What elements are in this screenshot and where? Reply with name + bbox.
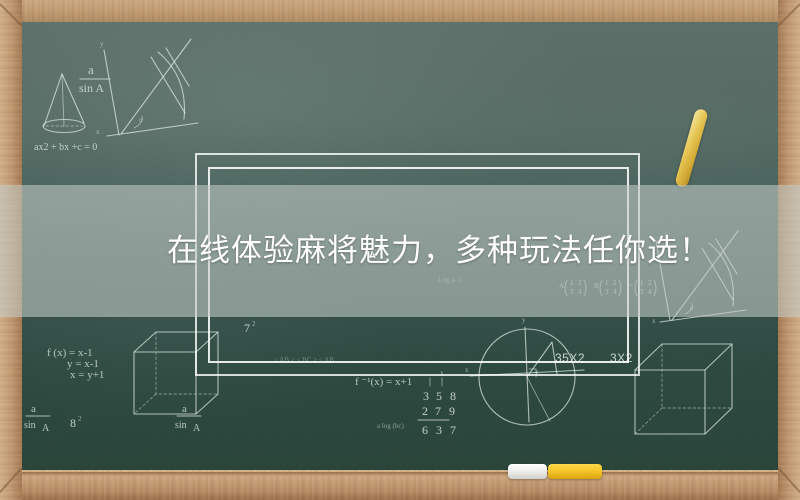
svg-text:o: o <box>139 116 143 124</box>
tray-lip <box>0 472 800 476</box>
svg-text:x: x <box>96 128 100 136</box>
chalk-cube-right <box>635 344 732 434</box>
chalk-function-lines: f (x) = x-1 y = x-1 x = y+1 <box>47 347 104 381</box>
chalk-angle-diagram-top: y x o <box>96 39 198 136</box>
chalk-log-bc: a log (bc) <box>377 422 404 430</box>
svg-text:sin A: sin A <box>79 81 104 95</box>
svg-text:a: a <box>182 403 187 415</box>
svg-text:2: 2 <box>422 404 428 418</box>
svg-text:8: 8 <box>70 416 76 430</box>
chalk-addition-column: x 3 5 8 2 7 9 6 3 7 <box>418 369 456 437</box>
svg-text:9: 9 <box>449 404 455 418</box>
headline-text: 在线体验麻将魅力，多种玩法任你选！ <box>167 236 711 267</box>
svg-text:7: 7 <box>435 404 441 418</box>
svg-text:y: y <box>100 40 104 48</box>
svg-text:5: 5 <box>436 389 442 403</box>
tray-chalk-white-icon <box>508 464 547 479</box>
tray-chalk-yellow-icon <box>548 464 602 479</box>
svg-text:2: 2 <box>78 415 82 423</box>
chalk-eight-squared: 8 2 <box>70 415 82 430</box>
svg-text:3: 3 <box>423 389 429 403</box>
svg-text:a: a <box>88 62 94 77</box>
svg-text:f (x) = x-1: f (x) = x-1 <box>47 347 93 359</box>
chalk-fraction-a-sina-bl: a sin A <box>24 403 50 434</box>
chalk-cone-diagram <box>43 74 85 133</box>
screenshot-stage: a sin A y x o ax2 + bx +c = 0 <box>0 0 800 500</box>
svg-text:8: 8 <box>450 389 456 403</box>
svg-text:y = x-1: y = x-1 <box>67 358 99 370</box>
frame-top-rail <box>0 0 800 22</box>
svg-text:7: 7 <box>450 423 456 437</box>
svg-text:sin: sin <box>175 420 187 431</box>
svg-text:A: A <box>193 423 201 434</box>
headline-banner: 在线体验麻将魅力，多种玩法任你选！ <box>0 185 800 317</box>
chalk-quadratic-text: ax2 + bx +c = 0 <box>34 142 97 153</box>
chalk-inverse-function: f ⁻¹(x) = x+1 <box>355 376 412 388</box>
svg-text:3: 3 <box>436 423 442 437</box>
svg-text:x: x <box>652 317 656 325</box>
chalk-fraction-a-sina-bl2: a sin A <box>175 403 201 434</box>
svg-text:x = y+1: x = y+1 <box>70 369 104 381</box>
chalk-stick-yellow-icon <box>674 108 709 188</box>
svg-text:A: A <box>42 423 50 434</box>
svg-text:a: a <box>31 403 36 415</box>
chalk-fraction-a-sina-top: a sin A <box>79 62 110 95</box>
svg-text:sin: sin <box>24 420 36 431</box>
svg-text:6: 6 <box>422 423 428 437</box>
